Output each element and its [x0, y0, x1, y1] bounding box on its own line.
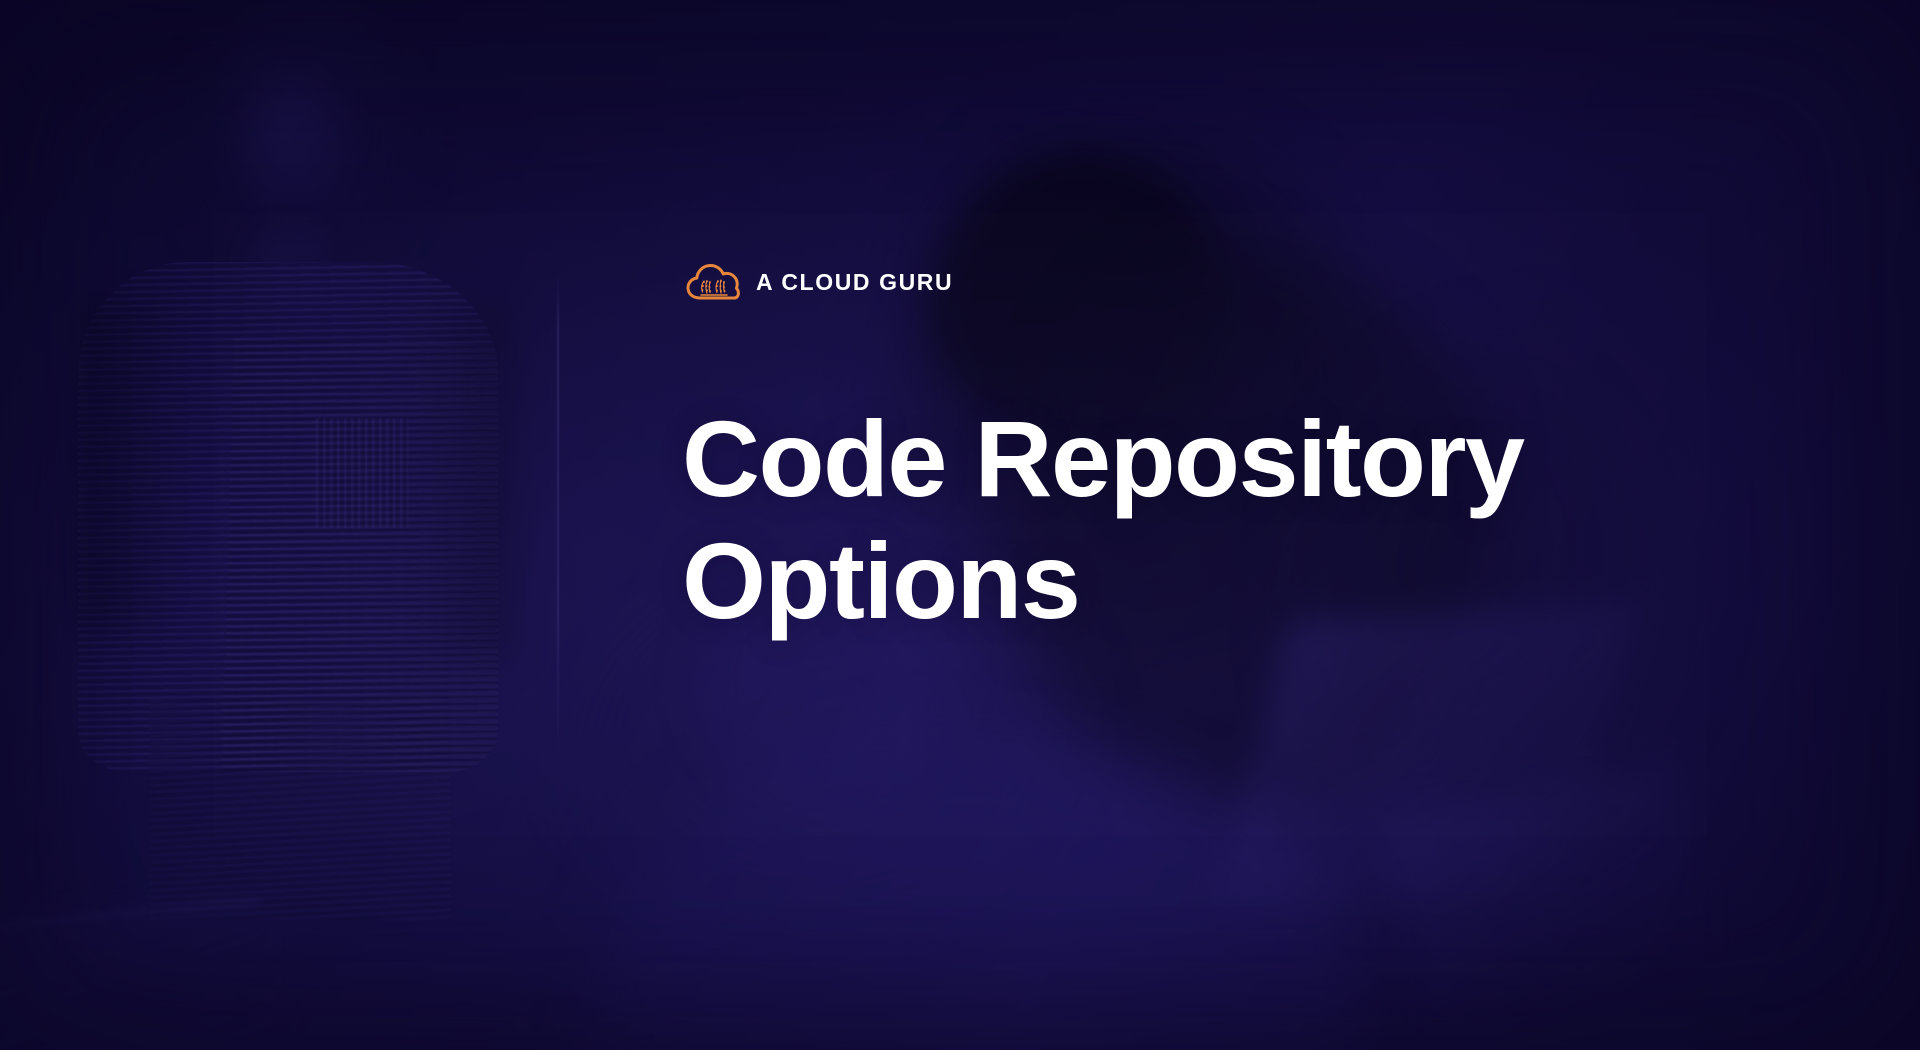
brand-name: A CLOUD GURU	[756, 271, 953, 294]
cloud-guru-logo-icon	[686, 262, 740, 302]
title-slide: A CLOUD GURU Code Repository Options	[0, 0, 1920, 1050]
brand-lockup: A CLOUD GURU	[686, 262, 953, 302]
slide-content: A CLOUD GURU Code Repository Options	[686, 0, 1586, 1050]
page-title: Code Repository Options	[682, 398, 1562, 642]
